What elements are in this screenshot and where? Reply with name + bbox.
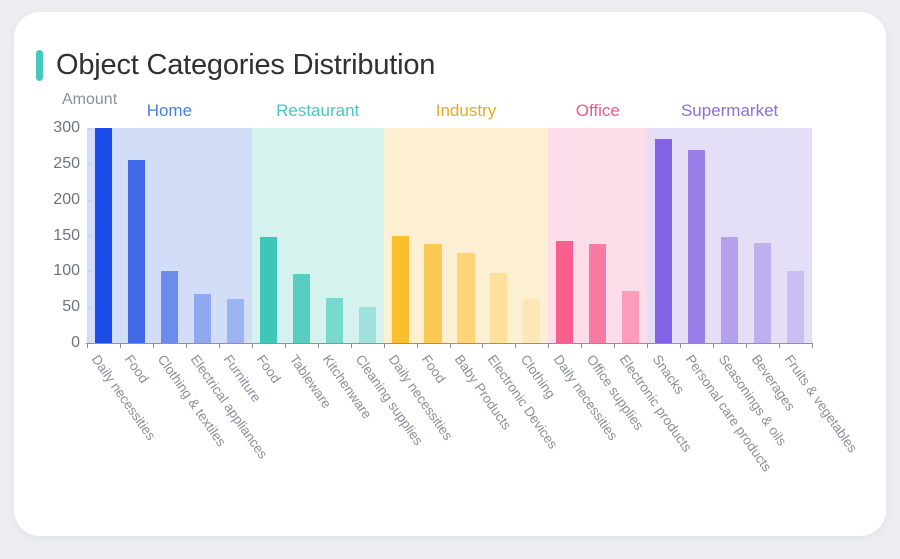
y-tick-mark — [87, 200, 91, 201]
y-tick-mark — [87, 164, 91, 165]
bar[interactable] — [326, 298, 343, 343]
bar[interactable] — [490, 273, 507, 343]
x-axis-label: Food — [122, 352, 152, 386]
bar[interactable] — [95, 128, 112, 343]
y-tick-mark — [87, 307, 91, 308]
bar[interactable] — [227, 299, 244, 343]
group-label-office: Office — [576, 101, 620, 121]
bar[interactable] — [293, 274, 310, 343]
x-axis-label: Daily necessities — [89, 352, 159, 443]
bar[interactable] — [754, 243, 771, 343]
bar[interactable] — [589, 244, 606, 343]
x-axis-line — [86, 343, 813, 344]
bar[interactable] — [622, 291, 639, 343]
group-label-industry: Industry — [436, 101, 496, 121]
bar[interactable] — [359, 307, 376, 343]
y-tick-mark — [87, 128, 91, 129]
y-tick-label: 300 — [53, 119, 80, 137]
bar[interactable] — [194, 294, 211, 343]
y-tick-label: 0 — [71, 334, 80, 352]
bar[interactable] — [424, 244, 441, 343]
y-tick-label: 250 — [53, 155, 80, 173]
y-tick-mark — [87, 271, 91, 272]
bar[interactable] — [128, 160, 145, 343]
group-label-restaurant: Restaurant — [276, 101, 359, 121]
y-axis-title: Amount — [62, 91, 117, 109]
bar[interactable] — [392, 236, 409, 344]
bar[interactable] — [556, 241, 573, 343]
bar[interactable] — [688, 150, 705, 344]
plot-region: HomeRestaurantIndustryOfficeSupermarket … — [87, 128, 812, 343]
chart-area: Amount HomeRestaurantIndustryOfficeSuper… — [14, 12, 886, 536]
group-label-supermarket: Supermarket — [681, 101, 778, 121]
bar[interactable] — [457, 253, 474, 343]
bar[interactable] — [260, 237, 277, 343]
y-tick-label: 100 — [53, 262, 80, 280]
bar[interactable] — [787, 271, 804, 343]
y-tick-label: 200 — [53, 191, 80, 209]
bar[interactable] — [655, 139, 672, 343]
chart-card: Object Categories Distribution Amount Ho… — [14, 12, 886, 536]
bar[interactable] — [721, 237, 738, 343]
y-tick-label: 150 — [53, 227, 80, 245]
x-axis-label: Food — [254, 352, 284, 386]
y-tick-mark — [87, 236, 91, 237]
bar[interactable] — [523, 299, 540, 343]
group-label-home: Home — [147, 101, 192, 121]
y-tick-label: 50 — [62, 298, 80, 316]
bar[interactable] — [161, 271, 178, 343]
x-axis-label: Food — [419, 352, 449, 386]
